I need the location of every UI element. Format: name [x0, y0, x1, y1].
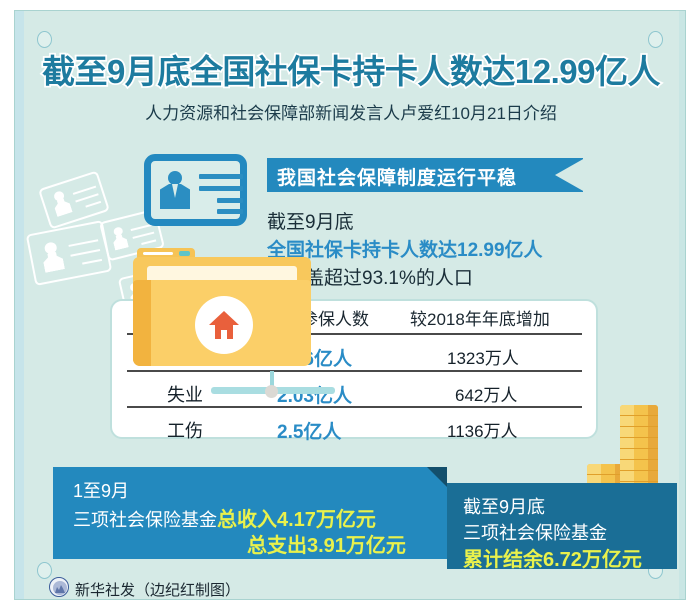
table-header-increase: 较2018年年底增加 [410, 305, 550, 330]
table-row: 2.03亿人 [277, 381, 352, 408]
fund-income-line-2: 三项社会保险基金总收入4.17万亿元 [73, 503, 376, 532]
fund-balance-line-2: 三项社会保险基金 [463, 519, 607, 545]
id-card-icon [144, 154, 247, 226]
decorative-id-card-icon [26, 220, 112, 286]
page-title: 截至9月底全国社保卡持卡人数达12.99亿人 [15, 45, 687, 93]
fund-balance-line-1: 截至9月底 [463, 493, 545, 519]
fund-balance-value: 累计结余6.72万亿元 [463, 543, 642, 572]
xinhua-logo-icon [49, 577, 69, 597]
intro-line-1: 截至9月底 [267, 207, 354, 234]
corner-hole-icon [37, 562, 52, 579]
folder-icon [133, 248, 311, 380]
footer-credit: 新华社发（边纪红制图） [75, 579, 240, 600]
house-icon [209, 311, 239, 339]
table-row: 失业 [167, 381, 203, 407]
fund-income-value: 总收入4.17万亿元 [217, 509, 376, 531]
table-row: 工伤 [167, 417, 203, 443]
folder-stand-knob [265, 385, 278, 398]
poster-frame: 截至9月底全国社保卡持卡人数达12.99亿人 人力资源和社会保障部新闻发言人卢爱… [14, 10, 686, 600]
fund-expense-value: 总支出3.91万亿元 [247, 529, 406, 558]
table-row: 2.5亿人 [277, 417, 341, 444]
table-row: 1136万人 [447, 417, 518, 442]
fund-income-line-1: 1至9月 [73, 477, 129, 503]
infographic-poster: 截至9月底全国社保卡持卡人数达12.99亿人 人力资源和社会保障部新闻发言人卢爱… [0, 0, 700, 610]
fund-income-line-2-prefix: 三项社会保险基金 [73, 510, 217, 530]
table-row: 1323万人 [447, 344, 519, 369]
table-row: 642万人 [455, 381, 517, 406]
section-banner-label: 我国社会保障制度运行平稳 [277, 163, 567, 190]
page-subtitle: 人力资源和社会保障部新闻发言人卢爱红10月21日介绍 [15, 99, 687, 124]
